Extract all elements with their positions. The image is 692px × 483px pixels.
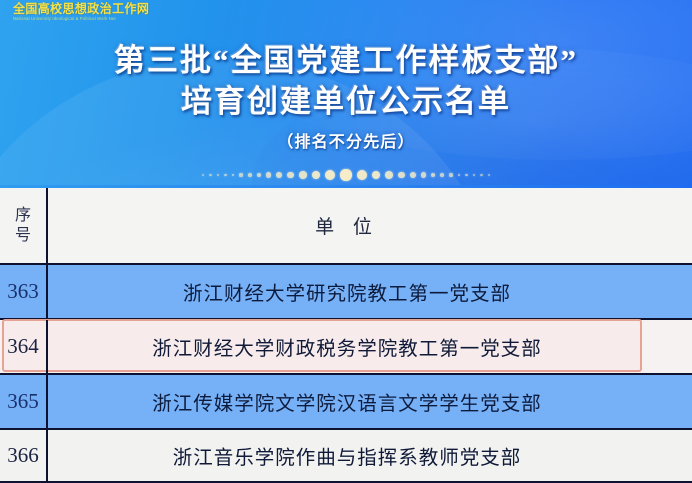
decorative-dot [410,172,416,178]
banner-title-block: 第三批“全国党建工作样板支部” 培育创建单位公示名单 （排名不分先后） [0,40,692,153]
decorative-dot [266,172,271,177]
decorative-dot [287,172,294,179]
public-notice-page: 全国高校思想政治工作网 National University Ideologi… [0,0,692,483]
decorative-dot [340,169,351,180]
site-logo[interactable]: 全国高校思想政治工作网 National University Ideologi… [13,3,165,25]
decorative-dot [224,174,227,177]
decorative-dot [257,173,261,177]
table-row-highlighted[interactable]: 364 浙江财经大学财政税务学院教工第一党支部 [0,318,692,373]
decorative-dot [299,171,307,179]
decorative-dot [449,173,452,176]
row-unit-name: 浙江财经大学研究院教工第一党支部 [48,265,692,318]
decorative-dot [372,171,381,180]
decorative-dot [421,172,426,177]
row-unit-name: 浙江传媒学院文学院汉语言文学学生党支部 [48,375,692,428]
unit-list-table: 序 号 单 位 363 浙江财经大学研究院教工第一党支部 364 浙江财经大学财… [0,188,692,483]
decorative-dot [398,172,405,179]
decorative-dot [385,171,393,179]
table-row[interactable]: 365 浙江传媒学院文学院汉语言文学学生党支部 [0,373,692,428]
row-number: 365 [0,375,48,428]
decorative-dot [239,173,242,176]
table-header-row: 序 号 单 位 [0,188,692,263]
decorative-dot [458,174,461,177]
column-header-no: 序 号 [0,188,48,263]
decorative-dot [217,174,219,176]
banner-bottom-edge [0,185,692,188]
column-header-unit: 单 位 [48,188,692,263]
decorative-dot [440,173,444,177]
decorative-dot [312,171,321,180]
row-number: 366 [0,430,48,481]
table-row[interactable]: 363 浙江财经大学研究院教工第一党支部 [0,263,692,318]
column-header-no-char1: 序 [15,206,31,226]
decorative-dot [325,170,335,180]
row-number: 363 [0,265,48,318]
decorative-dot [465,174,468,177]
decorative-dot [202,174,204,176]
decorative-dot [480,174,482,176]
column-header-no-char2: 号 [15,226,31,246]
page-subtitle: （排名不分先后） [0,133,692,153]
page-title-line1: 第三批“全国党建工作样板支部” [0,40,692,81]
decorative-dot [431,173,435,177]
site-logo-chinese: 全国高校思想政治工作网 [13,3,159,16]
row-unit-name: 浙江音乐学院作曲与指挥系教师党支部 [48,430,692,481]
decorative-dot-divider [0,166,692,184]
decorative-dot [473,174,475,176]
row-unit-name: 浙江财经大学财政税务学院教工第一党支部 [48,320,692,373]
decorative-dot [276,172,282,178]
decorative-dot [232,174,235,177]
decorative-dot [248,173,252,177]
row-number: 364 [0,320,48,373]
page-title-line2: 培育创建单位公示名单 [0,81,692,122]
table-row[interactable]: 366 浙江音乐学院作曲与指挥系教师党支部 [0,428,692,483]
decorative-dot [357,170,367,180]
site-logo-english: National University Ideological & Politi… [13,17,160,21]
decorative-dot [488,174,490,176]
decorative-dot [209,174,211,176]
